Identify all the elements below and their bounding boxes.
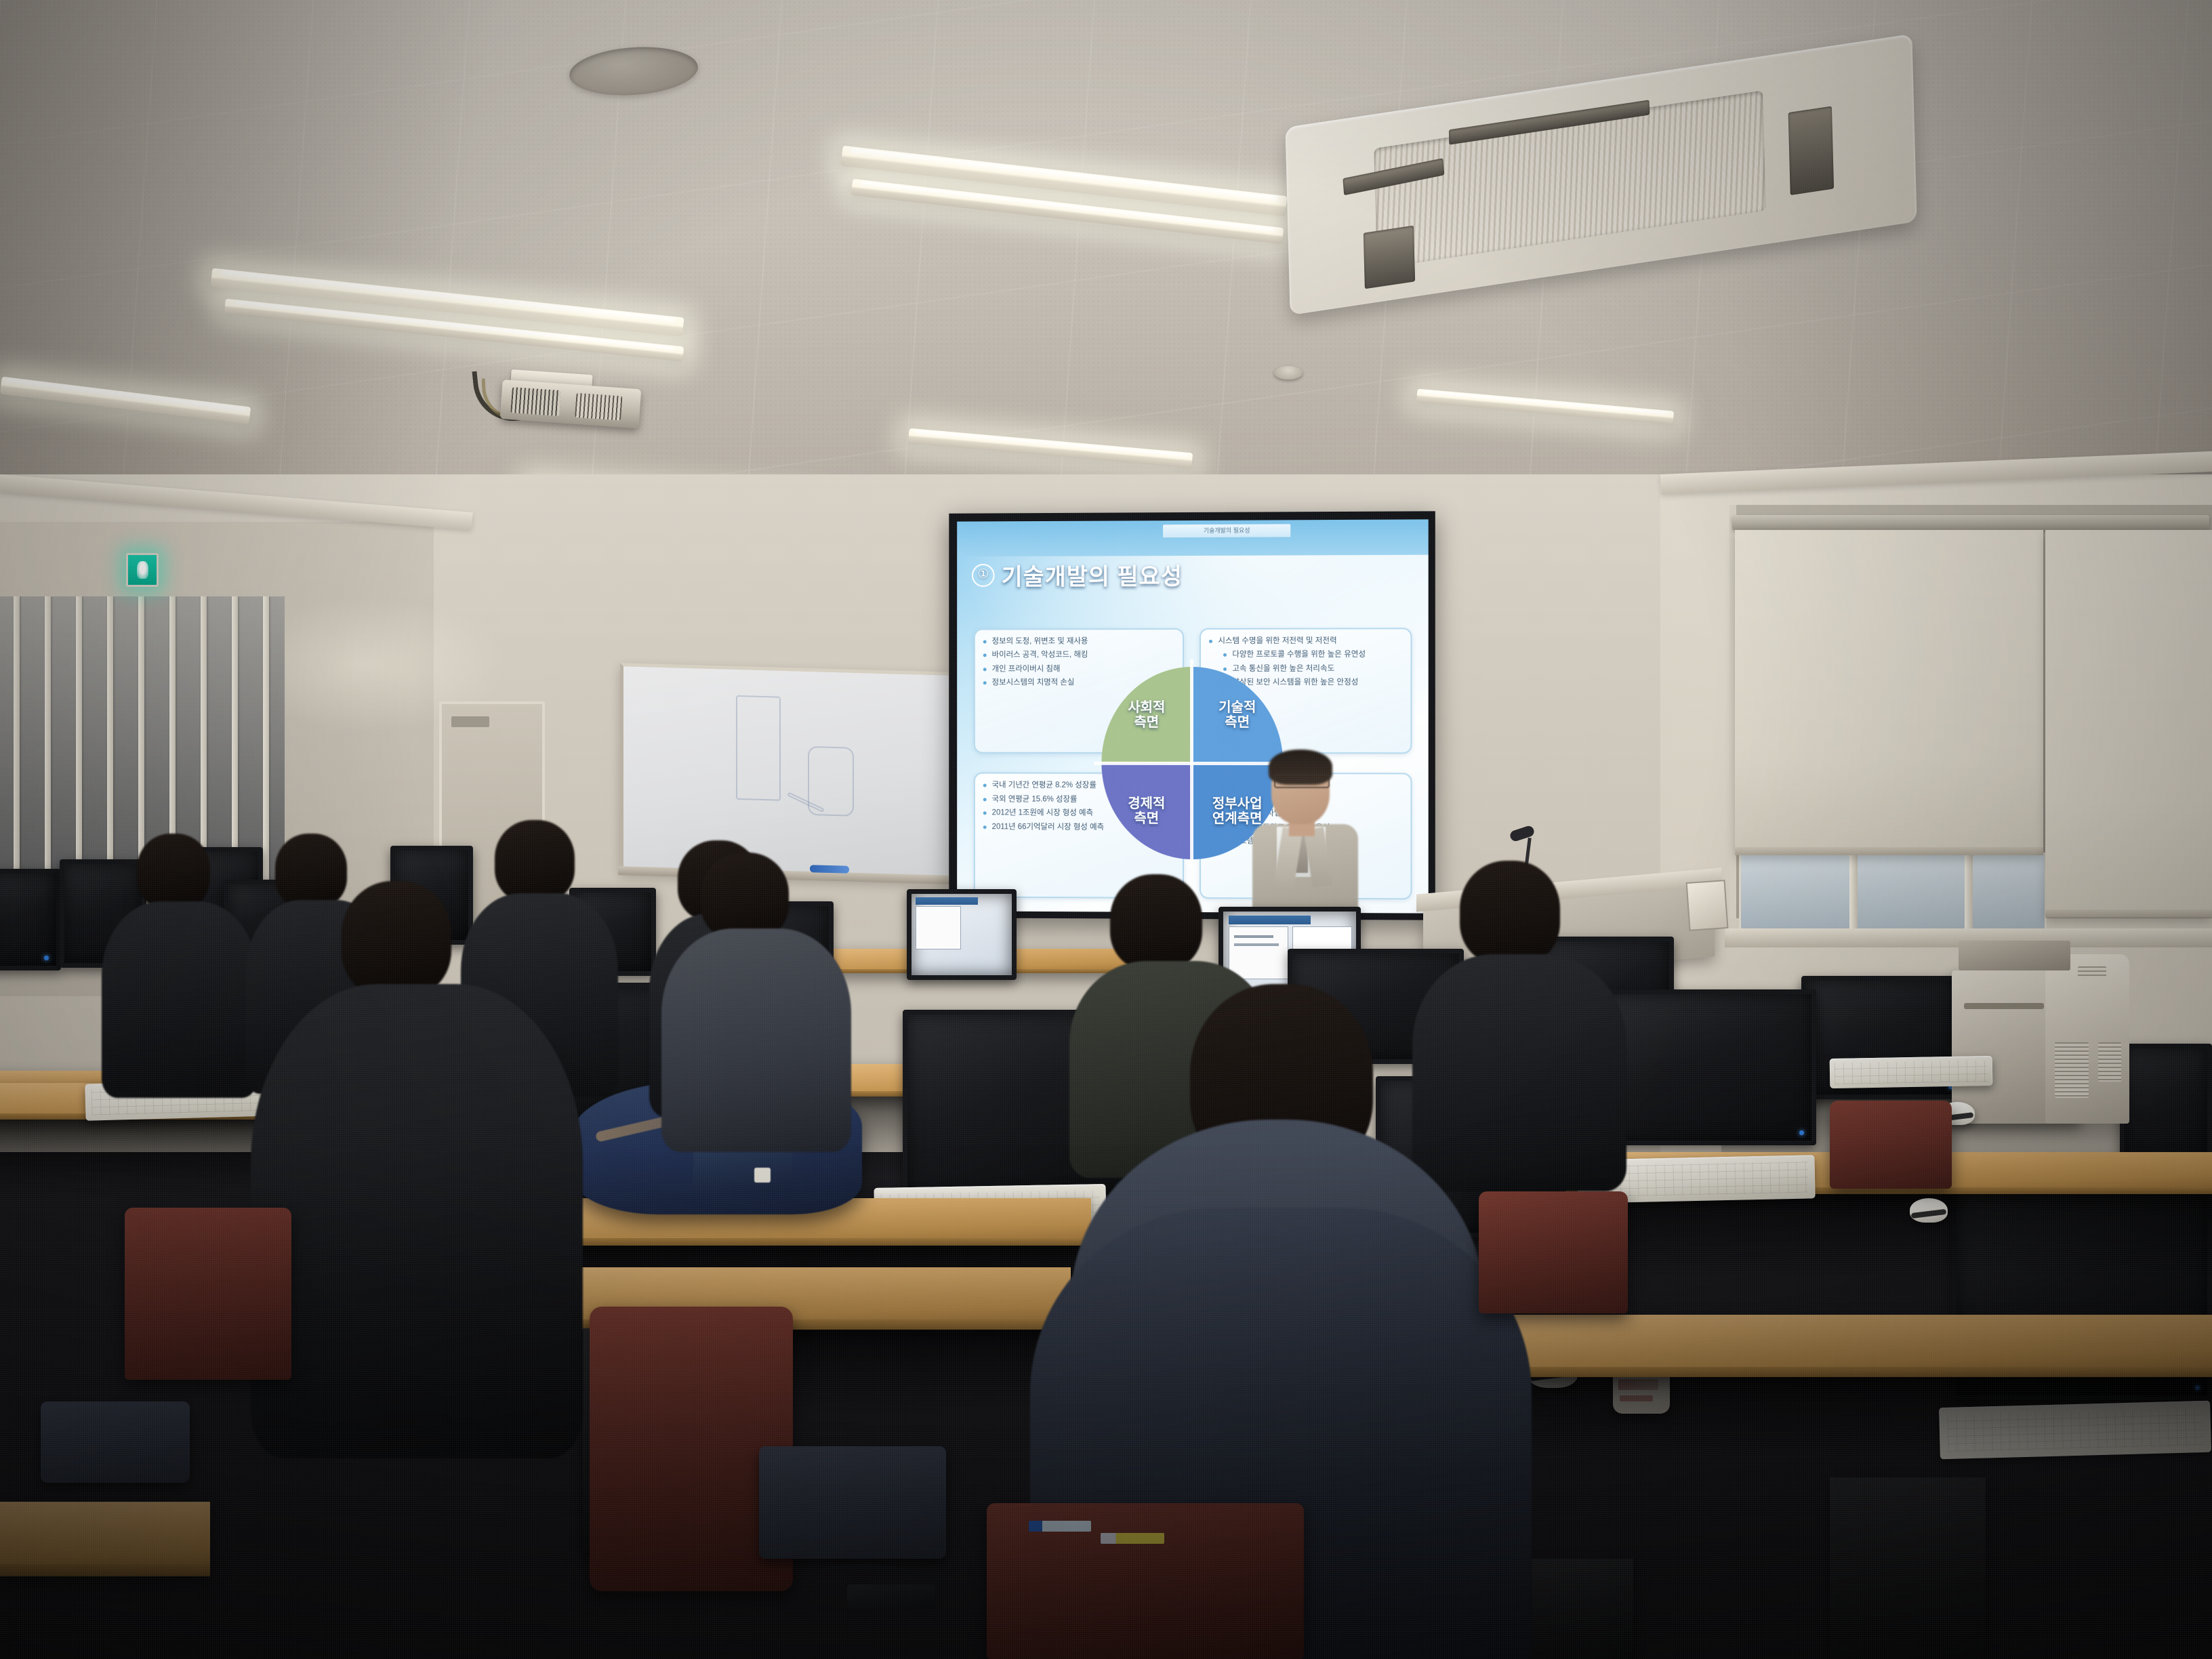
monitor-screen <box>1599 989 1816 1145</box>
blind-rail <box>1732 515 2209 530</box>
printer-output-tray <box>1964 1003 2044 1009</box>
whiteboard-marking <box>736 695 781 801</box>
keyboard-keys <box>1835 1060 1988 1084</box>
blind-hem <box>1735 847 2043 855</box>
smoke-detector-icon <box>1274 366 1303 380</box>
printer-vent <box>2098 1042 2121 1082</box>
slide-header-tab: 기술개발의 필요성 <box>1163 524 1290 537</box>
window-mullion <box>76 596 82 881</box>
window-text-line <box>1234 943 1279 946</box>
student-body <box>251 984 583 1458</box>
window-mullion <box>107 596 113 881</box>
bullet: 다양한 프로토콜 수행을 위한 높은 유연성 <box>1209 650 1402 661</box>
laser-printer[interactable] <box>1952 941 2129 1124</box>
pie-slice-technical: 기술적 측면 <box>1192 667 1283 763</box>
floor-power-strip <box>847 1584 935 1609</box>
slide-number: ① <box>972 564 995 587</box>
monitor-back-center-1 <box>907 889 1017 980</box>
slide-title: 기술개발의 필요성 <box>1002 558 1183 592</box>
mouse-scroll-split <box>1911 1209 1946 1218</box>
window-divider <box>1965 855 1973 929</box>
monitor-far-left-1 <box>0 869 61 970</box>
classroom-scene: 기술개발의 필요성 ① 기술개발의 필요성 정보의 도청, 위변조 및 재사용 … <box>0 0 2212 1659</box>
pie-label-technical: 기술적 측면 <box>1218 700 1256 731</box>
window-titlebar <box>1229 916 1311 924</box>
keyboard-4[interactable] <box>1830 1056 1993 1088</box>
printer-scanner-lid <box>1959 941 2070 970</box>
window-mullion <box>263 596 269 881</box>
pie-slice-social: 사회적 측면 <box>1101 667 1192 763</box>
chair-foreground-right[interactable] <box>987 1503 1304 1659</box>
emergency-exit-sign <box>126 553 159 587</box>
printer-side-unit <box>2045 954 2129 1124</box>
backpack-tag <box>754 1168 771 1183</box>
pie-label-economic: 경제적 측면 <box>1128 796 1165 827</box>
window-text-line <box>1234 935 1274 938</box>
printer-vent <box>2078 966 2106 979</box>
desk-edge <box>0 1564 210 1576</box>
student-head <box>701 853 789 941</box>
whiteboard-marker[interactable] <box>810 865 849 874</box>
power-led-icon <box>1799 1130 1804 1135</box>
running-man-icon <box>137 561 148 579</box>
pie-label-social: 사회적 측면 <box>1128 700 1165 731</box>
desk-front-right <box>1450 1315 2212 1377</box>
monitor-screen <box>907 889 1017 980</box>
printer-vent <box>2055 1042 2089 1098</box>
chair-right[interactable] <box>1479 1191 1628 1313</box>
chair-far-right[interactable] <box>1830 1101 1952 1189</box>
document-on-lectern <box>1686 880 1729 931</box>
glasses-icon <box>1274 774 1330 788</box>
window-mullion <box>14 596 20 881</box>
window-mullion <box>232 596 238 881</box>
chair-middle-left[interactable] <box>125 1208 291 1380</box>
student-head <box>137 834 210 909</box>
application-window <box>1229 926 1288 979</box>
projector-vent <box>510 387 560 416</box>
monitor-right-3 <box>1599 989 1816 1145</box>
slide-title-row: ① 기술개발의 필요성 <box>972 558 1183 592</box>
bullet: 시스템 수명을 위한 저전력 및 저전력 <box>1209 636 1402 647</box>
window-titlebar <box>916 897 978 905</box>
student-head <box>275 834 347 908</box>
bullet: 정보의 도청, 위변조 및 재사용 <box>983 636 1174 647</box>
bullet-list-technical: 시스템 수명을 위한 저전력 및 저전력 <box>1209 636 1402 647</box>
student-body <box>661 928 851 1152</box>
chair-seat-foreground[interactable] <box>759 1446 946 1559</box>
student-head <box>342 881 451 998</box>
desk-foreground-left <box>0 1502 210 1576</box>
door-sign <box>451 716 489 727</box>
chair-asset-sticker-blue <box>1029 1521 1091 1532</box>
application-window <box>916 906 961 949</box>
pc-tower-3 <box>1532 1559 1633 1659</box>
roller-blind-left[interactable] <box>1735 530 2043 855</box>
window-mullion <box>201 596 207 881</box>
desk-shadow <box>1450 1377 2212 1458</box>
glass-partition <box>0 596 285 881</box>
pc-tower-2 <box>1830 1477 1986 1659</box>
roller-blind-right[interactable] <box>2045 530 2212 918</box>
blind-hem <box>2045 909 2212 918</box>
ac-louver <box>1788 106 1835 196</box>
mouse-2[interactable] <box>1910 1198 1948 1223</box>
window-glass <box>1739 853 2047 931</box>
whiteboard <box>620 663 952 882</box>
desk-shadow <box>1565 1194 2212 1275</box>
student-head <box>1460 861 1560 965</box>
student-head <box>495 820 575 903</box>
chair-seat-left[interactable] <box>41 1401 190 1483</box>
ac-louver <box>1364 225 1415 289</box>
desk-edge <box>1450 1367 2212 1377</box>
window-divider <box>1849 855 1858 929</box>
pie-slice-economic: 경제적 측면 <box>1101 763 1192 859</box>
bullet: 바이러스 공격, 악성코드, 해킹 <box>983 650 1174 661</box>
student-body <box>1412 954 1626 1191</box>
chair-asset-sticker-yellow <box>1101 1533 1164 1544</box>
monitor-screen <box>0 869 61 970</box>
student-head <box>1110 874 1202 970</box>
power-led-icon <box>44 956 49 960</box>
window-mullion <box>45 596 51 881</box>
student-body <box>102 901 258 1098</box>
projector-vent <box>575 393 622 421</box>
window-mullion <box>138 596 144 881</box>
